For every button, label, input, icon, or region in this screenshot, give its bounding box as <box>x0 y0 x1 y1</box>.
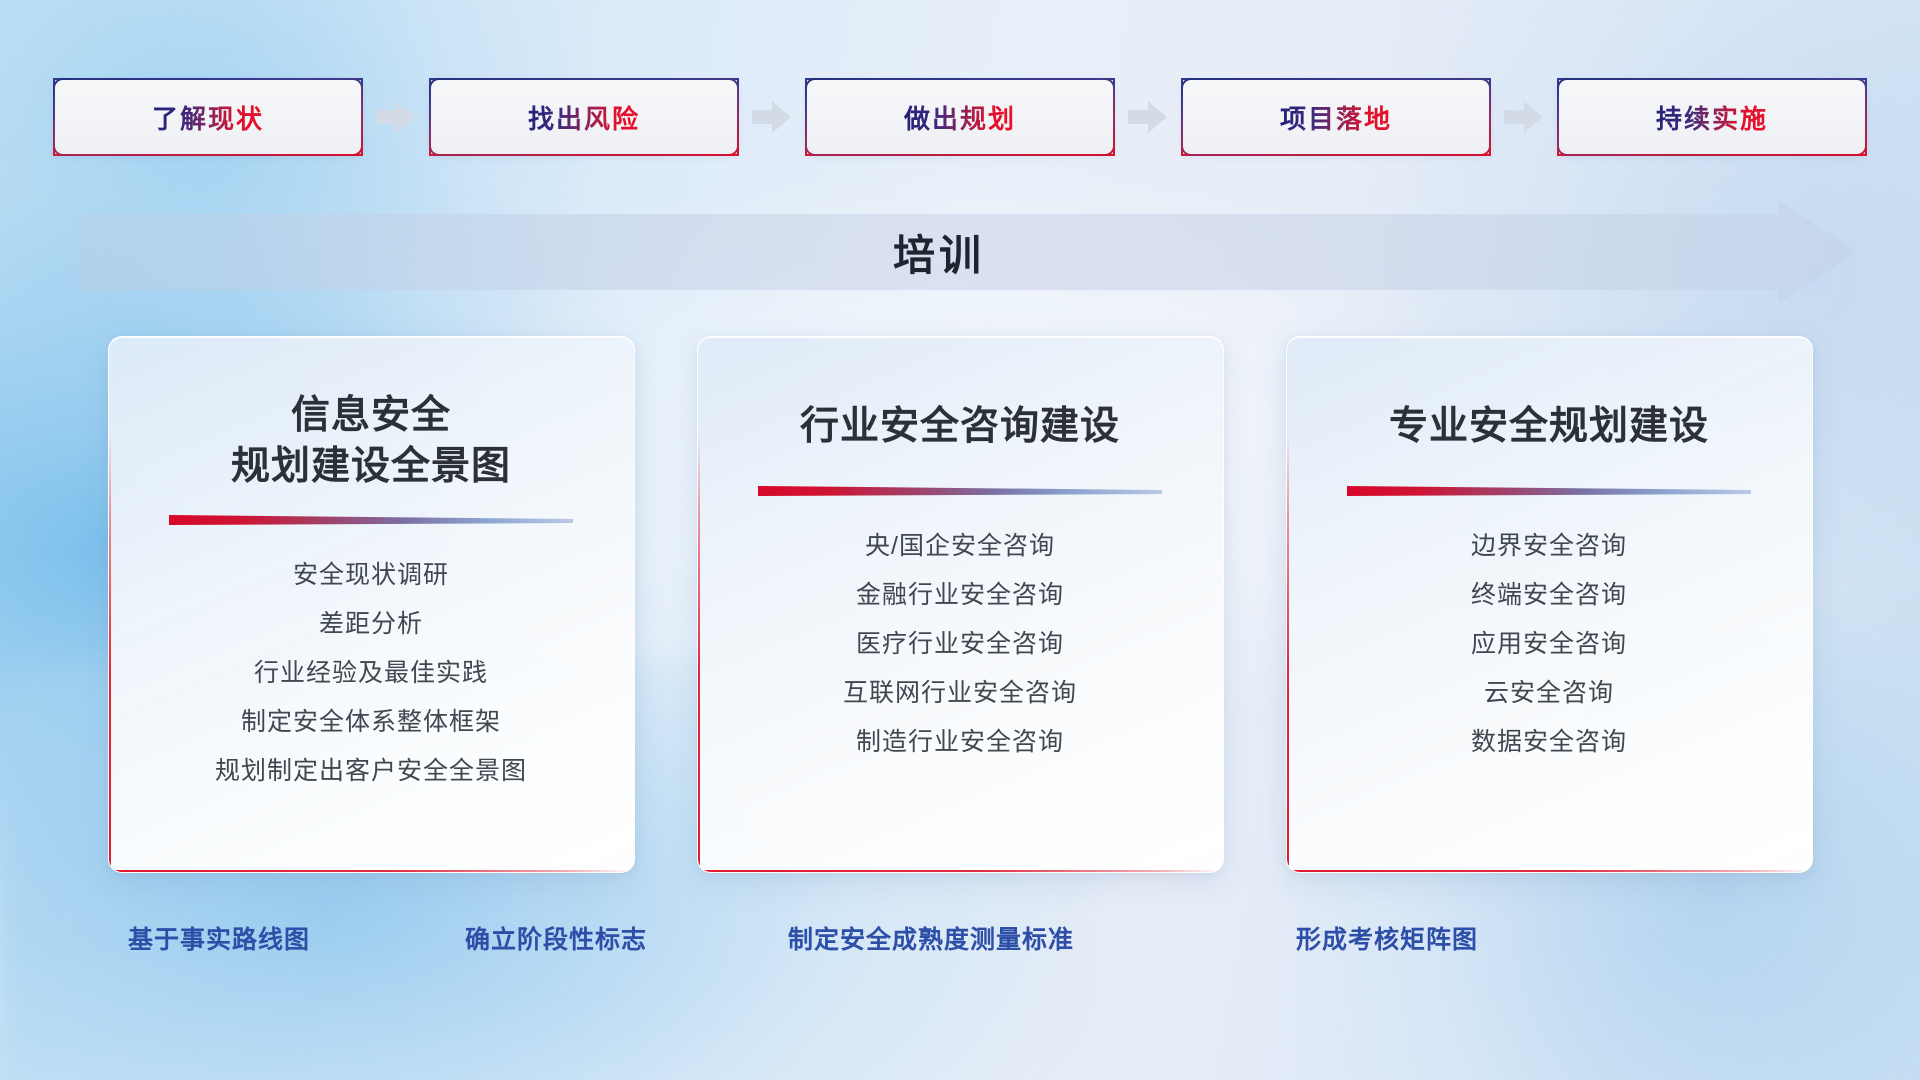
process-step-5[interactable]: 持续实施 <box>1557 78 1867 156</box>
step-arrow-icon-1 <box>363 100 429 134</box>
bottom-label-1: 基于事实路线图 <box>128 920 310 956</box>
step-arrow-icon-3 <box>1115 100 1181 134</box>
list-item[interactable]: 应用安全咨询 <box>1287 620 1812 669</box>
list-item[interactable]: 云安全咨询 <box>1287 669 1812 718</box>
service-card-1-list: 安全现状调研 差距分析 行业经验及最佳实践 制定安全体系整体框架 规划制定出客户… <box>109 551 634 796</box>
process-step-3[interactable]: 做出规划 <box>805 78 1115 156</box>
list-item[interactable]: 制造行业安全咨询 <box>698 718 1223 767</box>
training-banner-label-wrap: 培训 <box>78 200 1858 304</box>
list-item[interactable]: 规划制定出客户安全全景图 <box>109 747 634 796</box>
service-card-3-title: 专业安全规划建设 <box>1287 337 1812 463</box>
process-step-2-label: 找出风险 <box>528 99 640 136</box>
service-card-3-wrap: 专业安全规划建设 <box>1286 336 1813 873</box>
list-item[interactable]: 行业经验及最佳实践 <box>109 649 634 698</box>
card-divider-gradient-shape <box>169 512 573 527</box>
service-card-1[interactable]: 信息安全 规划建设全景图 <box>108 336 635 873</box>
list-item[interactable]: 央/国企安全咨询 <box>698 522 1223 571</box>
process-step-2[interactable]: 找出风险 <box>429 78 739 156</box>
service-card-2-wrap: 行业安全咨询建设 <box>697 336 1224 873</box>
bottom-label-4: 形成考核矩阵图 <box>1296 920 1478 956</box>
process-step-5-label: 持续实施 <box>1656 99 1768 136</box>
slide-canvas: 了解现状 找出风险 做出规划 项目落地 持续实施 <box>0 0 1920 1080</box>
card-divider-3 <box>1347 483 1751 498</box>
service-cards-row: 信息安全 规划建设全景图 <box>0 336 1920 873</box>
service-card-2-list: 央/国企安全咨询 金融行业安全咨询 医疗行业安全咨询 互联网行业安全咨询 制造行… <box>698 522 1223 767</box>
bottom-label-2: 确立阶段性标志 <box>465 920 647 956</box>
list-item[interactable]: 数据安全咨询 <box>1287 718 1812 767</box>
step-arrow-icon-2 <box>739 100 805 134</box>
step-arrow-icon-4 <box>1491 100 1557 134</box>
card-divider-gradient-shape <box>758 483 1162 498</box>
service-card-1-title: 信息安全 规划建设全景图 <box>109 337 634 492</box>
training-banner-label: 培训 <box>893 222 985 283</box>
card-divider-gradient-shape <box>1347 483 1751 498</box>
bottom-outcome-labels: 基于事实路线图 确立阶段性标志 制定安全成熟度测量标准 形成考核矩阵图 <box>0 920 1920 960</box>
card-left-accent-bar <box>109 433 111 872</box>
bottom-label-3: 制定安全成熟度测量标准 <box>788 920 1074 956</box>
service-card-2[interactable]: 行业安全咨询建设 <box>697 336 1224 873</box>
training-banner: 培训 <box>78 200 1858 304</box>
list-item[interactable]: 互联网行业安全咨询 <box>698 669 1223 718</box>
list-item[interactable]: 安全现状调研 <box>109 551 634 600</box>
card-divider-1 <box>169 512 573 527</box>
card-left-accent-bar <box>1287 433 1289 872</box>
process-step-4-label: 项目落地 <box>1280 99 1392 136</box>
card-bottom-accent-bar <box>1287 870 1812 872</box>
list-item[interactable]: 边界安全咨询 <box>1287 522 1812 571</box>
card-left-accent-bar <box>698 433 700 872</box>
service-card-2-title: 行业安全咨询建设 <box>698 337 1223 463</box>
process-step-3-label: 做出规划 <box>904 99 1016 136</box>
service-card-3-list: 边界安全咨询 终端安全咨询 应用安全咨询 云安全咨询 数据安全咨询 <box>1287 522 1812 767</box>
card-title-line: 信息安全 <box>143 391 600 442</box>
card-title-line: 行业安全咨询建设 <box>732 402 1189 453</box>
card-title-line: 专业安全规划建设 <box>1321 402 1778 453</box>
card-bottom-accent-bar <box>109 870 634 872</box>
card-divider-2 <box>758 483 1162 498</box>
process-step-bar: 了解现状 找出风险 做出规划 项目落地 持续实施 <box>0 78 1920 156</box>
service-card-1-wrap: 信息安全 规划建设全景图 <box>108 336 635 873</box>
list-item[interactable]: 终端安全咨询 <box>1287 571 1812 620</box>
card-title-line: 规划建设全景图 <box>143 442 600 493</box>
service-card-3[interactable]: 专业安全规划建设 <box>1286 336 1813 873</box>
list-item[interactable]: 金融行业安全咨询 <box>698 571 1223 620</box>
list-item[interactable]: 医疗行业安全咨询 <box>698 620 1223 669</box>
process-step-1[interactable]: 了解现状 <box>53 78 363 156</box>
list-item[interactable]: 差距分析 <box>109 600 634 649</box>
card-bottom-accent-bar <box>698 870 1223 872</box>
process-step-4[interactable]: 项目落地 <box>1181 78 1491 156</box>
process-step-1-label: 了解现状 <box>152 99 264 136</box>
list-item[interactable]: 制定安全体系整体框架 <box>109 698 634 747</box>
